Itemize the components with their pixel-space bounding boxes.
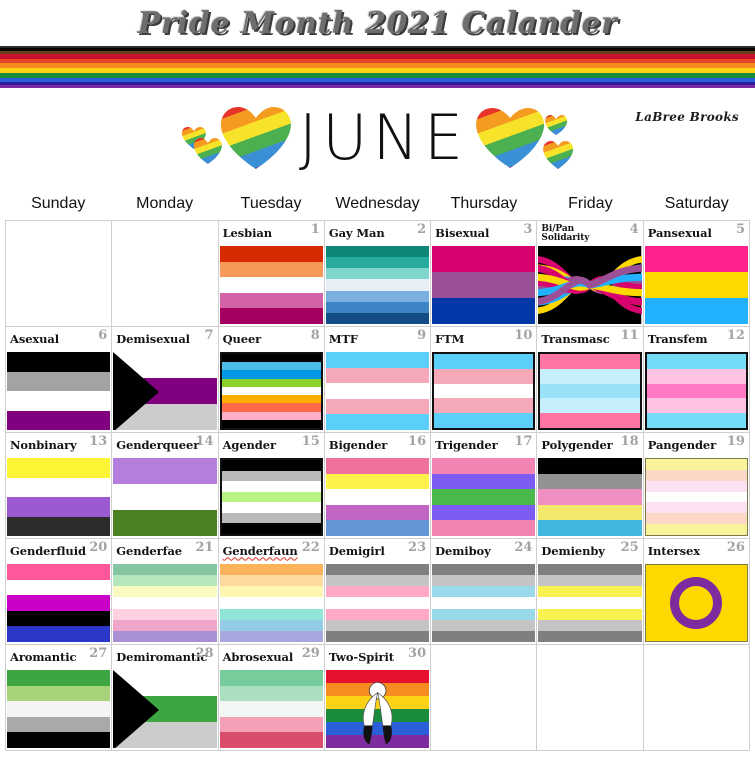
calendar-day-cell[interactable]: Bi/PanSolidarity4 [537,221,643,327]
flag-stripe [434,354,533,369]
flag-stripe [538,620,641,631]
flag-stripe [646,524,747,535]
weekday-sunday: Sunday [5,188,111,220]
day-cell-header: Bi/PanSolidarity4 [537,221,642,246]
day-number: 27 [89,646,107,661]
flag-stripe [538,609,641,620]
flag-stripe [326,505,429,521]
flag-stripe [220,732,323,748]
calendar-day-cell[interactable]: Lesbian1 [219,221,325,327]
calendar-grid: Lesbian1Gay Man2Bisexual3Bi/PanSolidarit… [5,220,750,751]
flag-stripe [432,458,535,474]
day-number: 11 [621,328,639,343]
flag-stripe [432,597,535,608]
pride-flag-label: Bi/PanSolidarity [541,225,589,243]
day-number: 25 [621,540,639,555]
pride-flag-label: Genderfaun [223,545,298,557]
pride-flag [113,670,216,748]
calendar-day-cell[interactable]: FTM10 [431,327,537,433]
calendar-cell-empty[interactable] [112,221,218,327]
pride-flag-label: Gay Man [329,227,385,239]
day-cell-header: Two-Spirit30 [325,645,430,670]
pride-flag [220,246,323,324]
day-number: 18 [621,434,639,449]
flag-stripe [432,474,535,490]
weekday-thursday: Thursday [431,188,537,220]
calendar-day-cell[interactable]: Bigender16 [325,433,431,539]
flag-stripe [220,686,323,702]
flag-stripe [647,354,746,369]
pride-flag-label: Demienby [541,545,604,557]
month-header: JUNE LaBree Brooks [0,88,755,188]
weekday-wednesday: Wednesday [324,188,430,220]
rainbow-hearts-left [181,105,293,171]
intersex-circle-symbol [670,577,722,629]
flag-stripe [7,478,110,498]
pride-flag [326,246,429,324]
flag-stripe [538,520,641,536]
pride-flag [432,458,535,536]
pride-flag-label: MTF [329,333,358,345]
calendar-day-cell[interactable]: Trigender17 [431,433,537,539]
day-number: 15 [302,434,320,449]
flag-triangle [113,352,159,430]
flag-stripe [113,631,216,642]
calendar-day-cell[interactable]: Demigirl23 [325,539,431,645]
flag-stripe [646,470,747,481]
flag-stripe [326,268,429,279]
flag-stripe [220,277,323,293]
flag-stripe [538,631,641,642]
flag-stripe [538,489,641,505]
pride-flag-label: Demisexual [116,333,190,345]
pride-flag [538,352,641,430]
flag-stripe [220,586,323,597]
flag-stripe [222,403,321,411]
flag-stripe [326,520,429,536]
day-cell-header: Pangender19 [644,433,749,458]
flag-stripe [220,670,323,686]
pride-flag [645,246,748,324]
day-cell-header: Transfem12 [644,327,749,352]
calendar-day-cell[interactable]: Demienby25 [537,539,643,645]
pride-flag-label: Agender [223,439,276,451]
calendar-day-cell[interactable]: Genderfaun22 [219,539,325,645]
flag-stripe [326,474,429,490]
day-number: 6 [98,328,107,343]
flag-stripe [7,611,110,627]
pride-flag [538,564,641,642]
flag-stripe [222,420,321,428]
flag-stripe [222,460,321,471]
pride-flag [645,458,748,536]
flag-stripe [220,620,323,631]
flag-stripe [326,313,429,324]
day-number: 10 [514,328,532,343]
flag-stripe [220,631,323,642]
flag-stripe [113,575,216,586]
calendar-day-cell[interactable]: Pansexual5 [644,221,750,327]
flag-stripe [7,372,110,392]
day-cell-header: Abrosexual29 [219,645,324,670]
day-cell-header: Agender15 [219,433,324,458]
pride-flag-label: Pansexual [648,227,712,239]
calendar-day-cell[interactable]: Genderfae21 [112,539,218,645]
pride-flag-label: Transfem [648,333,708,345]
day-cell-header: Pansexual5 [644,221,749,246]
flag-stripe [326,620,429,631]
flag-stripe [432,609,535,620]
flag-stripe [220,246,323,262]
flag-stripe [7,497,110,517]
flag-stripe [113,620,216,631]
flag-stripe [7,352,110,372]
calendar-day-cell[interactable]: Transmasc11 [537,327,643,433]
flag-stripe [432,298,535,324]
calendar-day-cell[interactable]: Genderfluid20 [6,539,112,645]
flag-stripe [326,383,429,399]
calendar-day-cell[interactable]: Nonbinary13 [6,433,112,539]
flag-stripe [434,384,533,399]
flag-stripe [432,520,535,536]
flag-stripe [7,701,110,717]
pride-flag-label: Two-Spirit [329,651,394,663]
pride-flag-label: Transmasc [541,333,609,345]
flag-stripe [220,609,323,620]
flag-stripe [646,481,747,492]
flag-stripe [432,489,535,505]
flag-stripe [7,717,110,733]
day-number: 17 [514,434,532,449]
pride-flag-label: Bigender [329,439,387,451]
day-cell-header: Demiboy24 [431,539,536,564]
pride-flag [326,564,429,642]
day-cell-header: Nonbinary13 [6,433,111,458]
flag-stripe [326,586,429,597]
pride-flag [220,352,323,430]
calendar-cell-empty[interactable] [431,645,537,751]
flag-stripe [222,387,321,395]
day-cell-header: Bigender16 [325,433,430,458]
calendar-day-cell[interactable]: Demiboy24 [431,539,537,645]
pride-flag-label: Genderfluid [10,545,86,557]
flag-stripe [222,471,321,482]
flag-stripe [326,279,429,290]
day-number: 5 [736,222,745,237]
flag-stripe [540,354,639,369]
flag-stripe [432,246,535,272]
flag-stripe [113,484,216,510]
day-number: 30 [408,646,426,661]
pride-flag-label: Demigirl [329,545,385,557]
flag-stripe [540,413,639,428]
flag-stripe [7,686,110,702]
calendar-day-cell[interactable]: Polygender18 [537,433,643,539]
bipan-solidarity-flag [538,246,641,324]
calendar-day-cell[interactable]: Asexual6 [6,327,112,433]
flag-stripe [326,564,429,575]
rainbow-hearts-right [474,106,574,170]
calendar-day-cell[interactable]: Abrosexual29 [219,645,325,751]
day-number: 16 [408,434,426,449]
flag-stripe [7,458,110,478]
flag-stripe [7,626,110,642]
flag-stripe [647,384,746,399]
day-cell-header: Demienby25 [537,539,642,564]
flag-stripe [113,597,216,608]
flag-stripe [647,369,746,384]
day-number: 20 [89,540,107,555]
pride-flag-label: Nonbinary [10,439,77,451]
flag-stripe [326,609,429,620]
day-number: 24 [514,540,532,555]
flag-stripe [326,399,429,415]
weekday-tuesday: Tuesday [218,188,324,220]
calendar-cell-empty[interactable] [644,645,750,751]
calendar-day-cell[interactable]: Genderqueer14 [112,433,218,539]
pride-flag-label: FTM [435,333,464,345]
flag-stripe [326,302,429,313]
flag-stripe [434,398,533,413]
flag-stripe [113,564,216,575]
flag-stripe [220,575,323,586]
day-cell-header: Trigender17 [431,433,536,458]
calendar-day-cell[interactable]: Demiromantic28 [112,645,218,751]
day-number: 1 [311,222,320,237]
feathers-icon [326,670,429,748]
flag-stripe [326,458,429,474]
flag-stripe [645,272,748,298]
flag-stripe [434,369,533,384]
flag-stripe [222,395,321,403]
day-cell-header: Queer8 [219,327,324,352]
calendar-day-cell[interactable]: Pangender19 [644,433,750,539]
pride-flag-label: Genderfae [116,545,182,557]
flag-stripe [7,732,110,748]
pride-flag [432,564,535,642]
intersex-flag [645,564,748,642]
day-cell-header: Demigirl23 [325,539,430,564]
pride-flag-label: Intersex [648,545,700,557]
day-cell-header: Genderfluid20 [6,539,111,564]
flag-stripe [7,391,110,411]
pride-flag [220,670,323,748]
flag-stripe [220,597,323,608]
weekday-monday: Monday [111,188,217,220]
day-cell-header: Genderqueer14 [112,433,217,458]
day-cell-header: FTM10 [431,327,536,352]
day-cell-header: Genderfae21 [112,539,217,564]
pride-flag [326,352,429,430]
day-cell-header: Transmasc11 [537,327,642,352]
flag-stripe [222,492,321,503]
pride-flag-label: Polygender [541,439,612,451]
day-cell-header: Demisexual7 [112,327,217,352]
weekday-header-row: SundayMondayTuesdayWednesdayThursdayFrid… [5,188,750,220]
flag-stripe [220,293,323,309]
flag-stripe [540,369,639,384]
flag-stripe [222,354,321,362]
pride-flag-label: Bisexual [435,227,489,239]
calendar-day-cell[interactable]: Transfem12 [644,327,750,433]
flag-stripe [113,609,216,620]
calendar-day-cell[interactable]: Gay Man2 [325,221,431,327]
flag-stripe [222,523,321,534]
day-number: 8 [311,328,320,343]
day-cell-header: Genderfaun22 [219,539,324,564]
day-number: 12 [727,328,745,343]
pride-flag-label: Genderqueer [116,439,199,451]
day-cell-header: MTF9 [325,327,430,352]
flag-stripe [645,298,748,324]
flag-stripe [647,413,746,428]
flag-stripe [646,502,747,513]
flag-stripe [222,481,321,492]
flag-stripe [645,246,748,272]
flag-stripe [326,368,429,384]
flag-stripe [647,398,746,413]
flag-stripe [432,620,535,631]
flag-stripe [220,717,323,733]
day-number: 14 [195,434,213,449]
day-number: 4 [630,222,639,237]
weekday-friday: Friday [537,188,643,220]
day-number: 13 [89,434,107,449]
pride-flag-label: Demiboy [435,545,491,557]
pride-flag-label: Lesbian [223,227,272,239]
calendar-day-cell[interactable]: MTF9 [325,327,431,433]
day-number: 29 [302,646,320,661]
flag-stripe [538,575,641,586]
weekday-saturday: Saturday [644,188,750,220]
day-number: 22 [302,540,320,555]
day-number: 19 [727,434,745,449]
flag-stripe [538,458,641,474]
pride-flag [7,564,110,642]
flag-stripe [220,564,323,575]
flag-stripe [7,564,110,580]
day-number: 9 [417,328,426,343]
flag-stripe [7,595,110,611]
day-cell-header: Bisexual3 [431,221,536,246]
flag-stripe [113,510,216,536]
flag-stripe [222,502,321,513]
day-cell-header: Gay Man2 [325,221,430,246]
flag-stripe [326,414,429,430]
flag-stripe [432,505,535,521]
flag-stripe [113,458,216,484]
flag-stripe [326,631,429,642]
flag-stripe [222,362,321,370]
flag-stripe [7,670,110,686]
pride-flag [113,458,216,536]
day-cell-header: Lesbian1 [219,221,324,246]
calendar-cell-empty[interactable] [6,221,112,327]
flag-stripe [538,564,641,575]
day-number: 26 [727,540,745,555]
flag-stripe [538,597,641,608]
flag-stripe [432,564,535,575]
day-cell-header: Demiromantic28 [112,645,217,670]
flag-stripe [220,308,323,324]
flag-stripe [432,575,535,586]
flag-stripe [538,505,641,521]
calendar-day-cell[interactable]: Two-Spirit30 [325,645,431,751]
pride-flag [7,458,110,536]
title-banner: Pride Month 2021 Calander [0,0,755,48]
calendar-day-cell[interactable]: Aromantic27 [6,645,112,751]
calendar-day-cell[interactable]: Agender15 [219,433,325,539]
flag-stripe [538,586,641,597]
day-number: 21 [195,540,213,555]
pride-flag [7,670,110,748]
pride-flag-label: Aromantic [10,651,76,663]
calendar-day-cell[interactable]: Bisexual3 [431,221,537,327]
author-signature: LaBree Brooks [635,110,739,124]
pride-flag-label: Asexual [10,333,59,345]
pride-flag [220,564,323,642]
flag-stripe [7,580,110,596]
month-name: JUNE [299,107,468,169]
flag-stripe [538,474,641,490]
calendar-day-cell[interactable]: Demisexual7 [112,327,218,433]
flag-stripe [432,631,535,642]
flag-stripe [222,513,321,524]
flag-stripe [540,384,639,399]
calendar-cell-empty[interactable] [537,645,643,751]
page-title: Pride Month 2021 Calander [138,6,618,41]
day-number: 7 [205,328,214,343]
day-cell-header: Aromantic27 [6,645,111,670]
flag-stripe [113,586,216,597]
rainbow-stripe-bar [0,48,755,88]
day-cell-header: Asexual6 [6,327,111,352]
calendar-day-cell[interactable]: Queer8 [219,327,325,433]
pride-flag-label: Trigender [435,439,497,451]
pride-flag-label: Queer [223,333,262,345]
flag-stripe [326,489,429,505]
pride-flag [7,352,110,430]
pride-flag [220,458,323,536]
flag-stripe [222,379,321,387]
flag-stripe [326,246,429,257]
pride-flag-label: Demiromantic [116,651,207,663]
pride-flag-label: Pangender [648,439,716,451]
day-cell-header: Polygender18 [537,433,642,458]
flag-stripe [326,291,429,302]
two-spirit-flag [326,670,429,748]
flag-stripe [646,459,747,470]
pride-calendar-page: Pride Month 2021 Calander JUNE LaBree Br… [0,0,755,767]
flag-stripe [7,411,110,431]
calendar-day-cell[interactable]: Intersex26 [644,539,750,645]
day-number: 2 [417,222,426,237]
flag-stripe [434,413,533,428]
flag-stripe [646,513,747,524]
flag-stripe [220,262,323,278]
pride-flag [432,352,535,430]
flag-stripe [432,272,535,298]
flag-stripe [326,352,429,368]
pride-flag [326,458,429,536]
pride-flag-label: Abrosexual [223,651,294,663]
pride-flag [645,352,748,430]
flag-stripe [220,701,323,717]
flag-stripe [326,597,429,608]
flag-stripe [540,398,639,413]
day-cell-header: Intersex26 [644,539,749,564]
pride-flag [113,564,216,642]
